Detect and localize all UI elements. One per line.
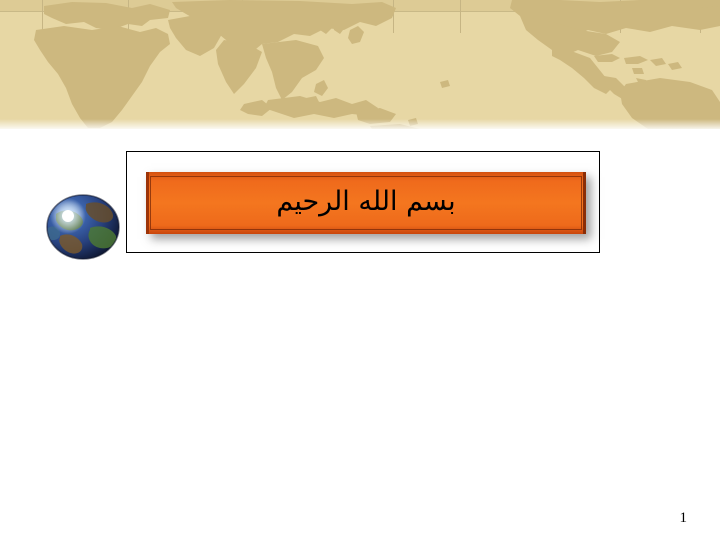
earth-globe-icon (46, 194, 120, 260)
bismillah-title-text: بسم الله الرحیم (276, 188, 455, 218)
banner-bottom-fade (0, 119, 720, 129)
world-map-banner (0, 0, 720, 129)
title-plate-left-edge (146, 172, 149, 234)
bismillah-title-plate: بسم الله الرحیم (146, 172, 586, 234)
slide-canvas: بسم الله الرحیم 1 (0, 0, 720, 540)
page-number: 1 (680, 511, 688, 526)
title-plate-right-edge (583, 172, 586, 234)
world-map-continents-icon (0, 0, 720, 129)
